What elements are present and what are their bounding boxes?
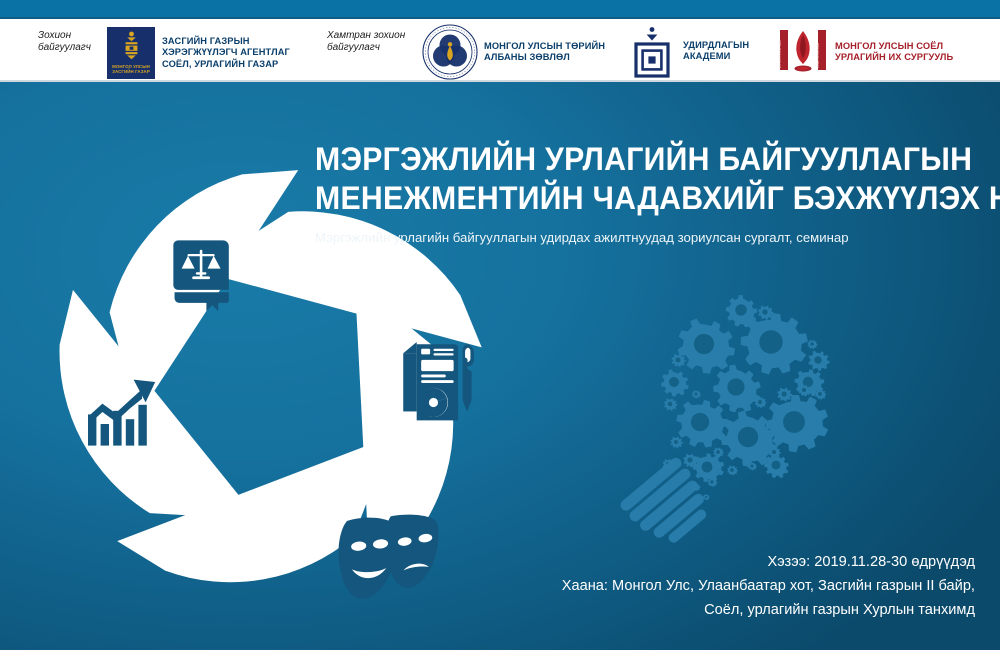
- title-line-1: МЭРГЭЖЛИЙН УРЛАГИЙН БАЙГУУЛЛАГЫН: [315, 140, 933, 179]
- logo-university-culture-arts: ИХ СУРГУУЛЬ 1990 СОЁЛ УРЛАГИЙН МОНГОЛ УЛ…: [778, 26, 953, 78]
- law-book-icon: [173, 240, 228, 311]
- title-line-2: МЕНЕЖМЕНТИЙН ЧАДАВХИЙГ БЭХЖҮҮЛЭХ НЬ: [315, 179, 933, 218]
- organizer-kicker: Зохион байгуулагч: [38, 30, 91, 54]
- logo-civil-service-council-label: МОНГОЛ УЛСЫН ТӨРИЙН АЛБАНЫ ЗӨВЛӨЛ: [484, 41, 605, 64]
- event-subtitle: Мэргэжлийн урлагийн байгууллагын удирдах…: [315, 229, 980, 247]
- logo-leadership-academy-label: УДИРДЛАГЫН АКАДЕМИ: [683, 40, 749, 63]
- event-date: Хэзээ: 2019.11.28-30 өдрүүдэд: [562, 550, 975, 574]
- event-venue-line-1: Хаана: Монгол Улс, Улаанбаатар хот, Засг…: [562, 574, 975, 598]
- poster-canvas: Зохион байгуулагч МОНГОЛ УЛСЫН ЗАСГИЙН Г…: [0, 0, 1000, 650]
- logo-civil-service-council: МОНГОЛ УЛСЫН ТӨРИЙН АЛБАНЫ ЗӨВЛӨЛ: [422, 24, 605, 80]
- event-details: Хэзээ: 2019.11.28-30 өдрүүдэд Хаана: Мон…: [562, 550, 975, 622]
- event-venue-line-2: Соёл, урлагийн газрын Хурлын танхимд: [562, 598, 975, 622]
- government-plaque-text: МОНГОЛ УЛСЫН ЗАСГИЙН ГАЗАР: [108, 64, 154, 75]
- university-culture-arts-emblem-icon: ИХ СУРГУУЛЬ 1990 СОЁЛ УРЛАГИЙН: [778, 26, 828, 78]
- gear-lightbulb-icon: [608, 282, 868, 552]
- coorganizer-kicker: Хамтран зохион байгуулагч: [327, 30, 405, 54]
- theater-masks-icon: [339, 515, 439, 599]
- top-accent-bar: [0, 0, 1000, 17]
- logo-government-agency: МОНГОЛ УЛСЫН ЗАСГИЙН ГАЗАР ЗАСГИЙН ГАЗРЫ…: [107, 27, 290, 79]
- report-pen-icon: [403, 342, 474, 420]
- svg-text:ИХ СУРГУУЛЬ 1990: ИХ СУРГУУЛЬ 1990: [778, 40, 782, 68]
- organizer-kicker-text: Зохион байгуулагч: [38, 30, 91, 54]
- government-emblem-plaque: МОНГОЛ УЛСЫН ЗАСГИЙН ГАЗАР: [107, 27, 155, 79]
- soyombo-icon: [123, 31, 140, 62]
- civil-service-council-emblem-icon: [422, 24, 478, 80]
- svg-text:СОЁЛ УРЛАГИЙН: СОЁЛ УРЛАГИЙН: [816, 43, 820, 68]
- title-block: МЭРГЭЖЛИЙН УРЛАГИЙН БАЙГУУЛЛАГЫН МЕНЕЖМЕ…: [315, 140, 980, 247]
- logo-government-agency-label: ЗАСГИЙН ГАЗРЫН ХЭРЭГЖҮҮЛЭГЧ АГЕНТЛАГ СОЁ…: [162, 36, 290, 71]
- coorganizer-kicker-text: Хамтран зохион байгуулагч: [327, 30, 405, 54]
- logo-leadership-academy: УДИРДЛАГЫН АКАДЕМИ: [628, 23, 749, 79]
- leadership-academy-emblem-icon: [628, 23, 676, 79]
- logo-university-culture-arts-label: МОНГОЛ УЛСЫН СОЁЛ УРЛАГИЙН ИХ СУРГУУЛЬ: [835, 41, 953, 64]
